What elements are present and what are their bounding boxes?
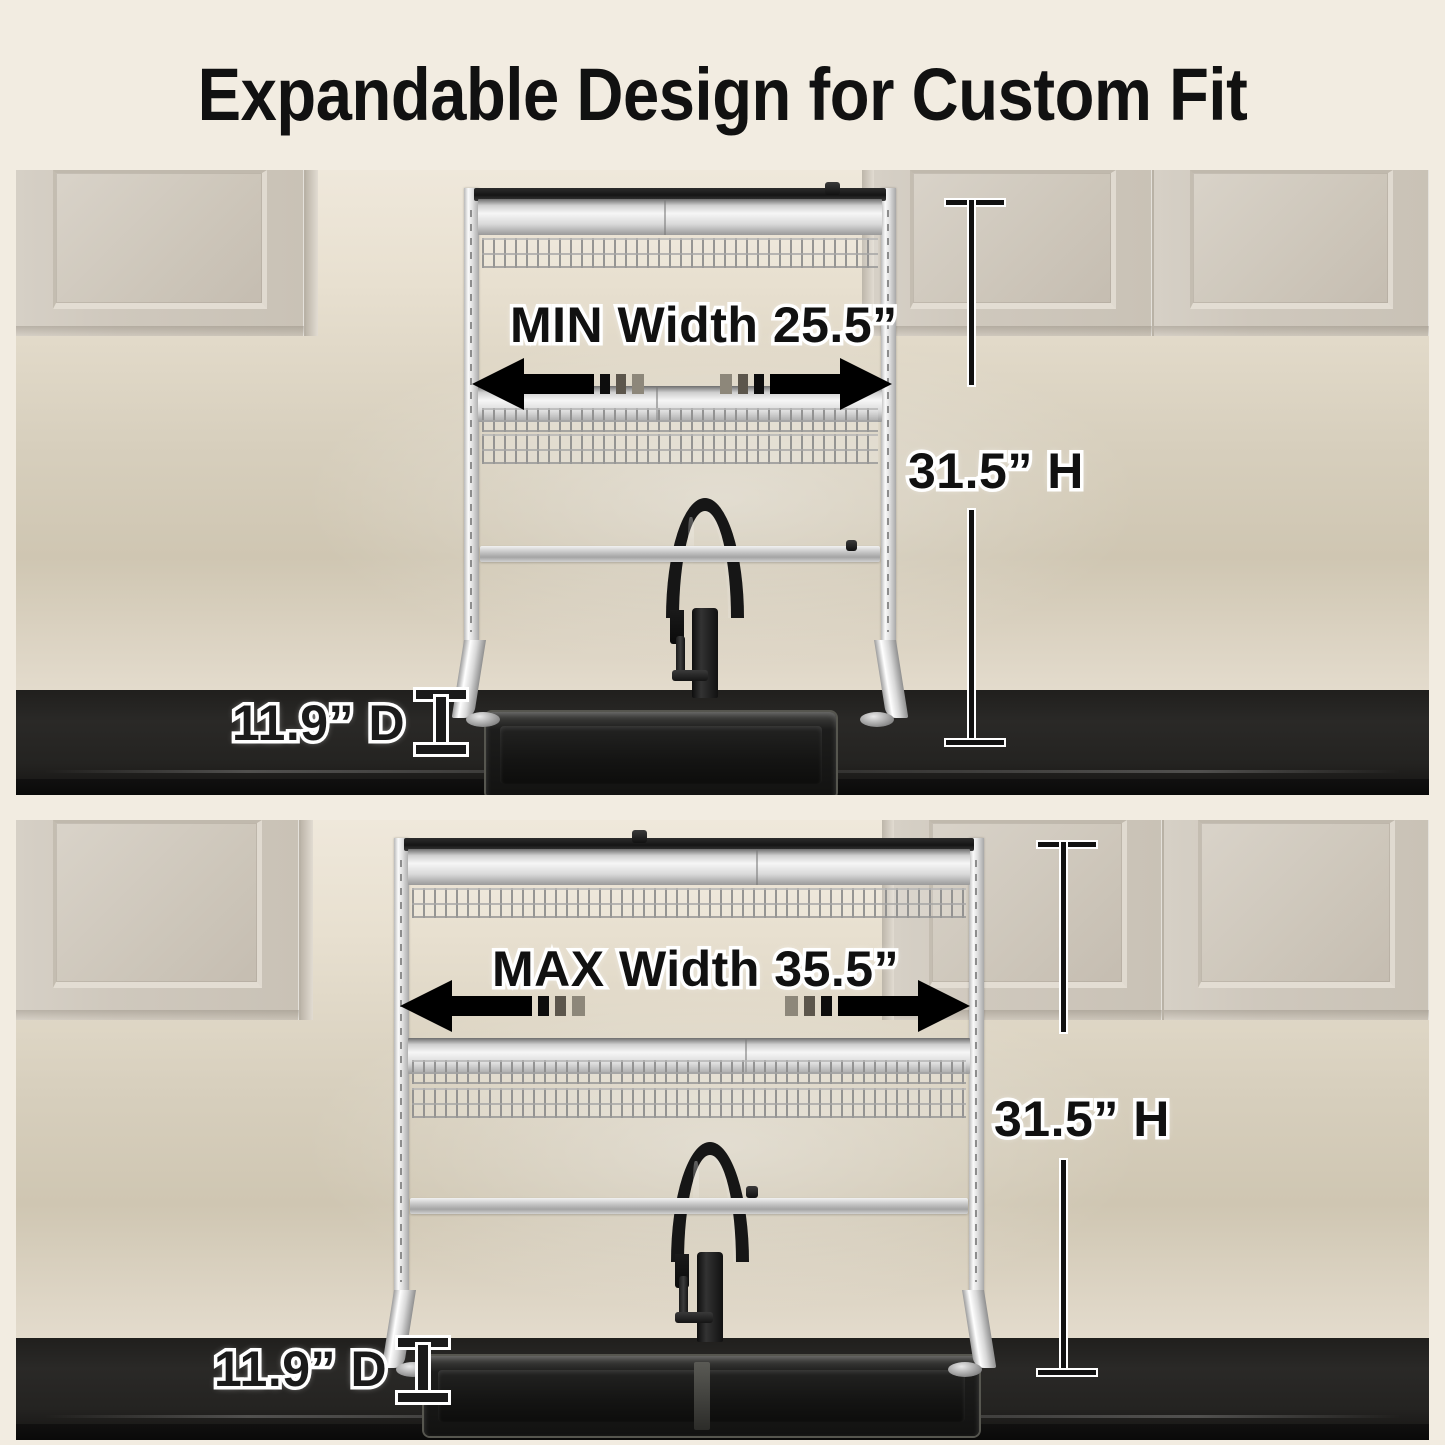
depth-ibeam-icon	[398, 1338, 448, 1402]
kitchen-sink	[424, 1356, 979, 1436]
depth-ibeam-icon	[416, 690, 466, 754]
arrow-head-left-icon	[400, 980, 452, 1032]
rack-upper-shelf	[474, 188, 886, 278]
rack-lower-shelf	[404, 1038, 974, 1130]
height-line-upper	[969, 200, 974, 385]
height-line-top-cap	[1038, 842, 1096, 847]
height-line-lower	[969, 510, 974, 745]
arrow-shaft-right	[838, 996, 920, 1016]
arrow-dash	[720, 374, 732, 394]
rack-foot-pad	[948, 1362, 982, 1377]
rack-foot-pad	[860, 712, 894, 727]
shelf-tray	[478, 199, 882, 235]
cabinet-door	[874, 170, 1154, 336]
rack-post-adjust-holes	[975, 860, 977, 1282]
height-label: 31.5” H	[908, 442, 1084, 500]
sink-divider	[694, 1362, 710, 1430]
rack-upper-shelf	[404, 838, 974, 928]
cabinet-group-left	[16, 170, 318, 336]
arrow-dash	[616, 374, 626, 394]
width-dimension-arrow	[472, 358, 892, 410]
height-line-bottom-cap	[946, 740, 1004, 745]
arrow-dash	[572, 996, 585, 1016]
min-width-label: MIN Width 25.5”	[510, 296, 898, 354]
shelf-wire-grid	[482, 434, 878, 464]
rack-foot-left	[464, 640, 504, 718]
arrow-dash	[538, 996, 549, 1016]
height-line-upper	[1061, 842, 1066, 1032]
rack-cross-bar-knob[interactable]	[846, 540, 857, 551]
cabinet-group-left	[16, 820, 313, 1020]
rack-foot-pad	[466, 712, 500, 727]
cabinet-edge	[306, 170, 318, 336]
arrow-dash	[754, 374, 764, 394]
arrow-dash	[804, 996, 815, 1016]
dish-drying-rack	[394, 838, 984, 1358]
arrow-head-right-icon	[840, 358, 892, 410]
height-line-top-cap	[946, 200, 1004, 205]
arrow-dash	[821, 996, 832, 1016]
cabinet-door	[16, 170, 306, 336]
arrow-dash	[785, 996, 798, 1016]
dish-drying-rack	[464, 188, 896, 708]
rack-post-adjust-holes	[887, 210, 889, 632]
shelf-wire-rail	[482, 408, 878, 432]
height-label: 31.5” H	[994, 1090, 1170, 1148]
arrow-shaft-left	[522, 374, 594, 394]
rack-post-adjust-holes	[400, 860, 402, 1282]
rack-foot-right	[856, 640, 896, 718]
arrow-head-right-icon	[918, 980, 970, 1032]
depth-label: 11.9” D	[232, 694, 405, 752]
ibeam-bottom-bar	[416, 745, 466, 754]
arrow-dash	[738, 374, 748, 394]
max-width-panel: MAX Width 35.5” 31.5” H 11.9” D	[16, 820, 1429, 1440]
arrow-dash	[632, 374, 644, 394]
rack-foot-right	[944, 1290, 984, 1368]
shelf-tray-seam	[756, 849, 758, 885]
depth-label: 11.9” D	[214, 1340, 387, 1398]
height-line-lower	[1061, 1160, 1066, 1375]
rack-knob[interactable]	[632, 830, 647, 843]
rack-post-adjust-holes	[470, 210, 472, 632]
height-line-bottom-cap	[1038, 1370, 1096, 1375]
page-title: Expandable Design for Custom Fit	[87, 52, 1359, 137]
shelf-tray	[408, 849, 970, 885]
width-dimension-arrow	[400, 980, 970, 1032]
arrow-dash	[555, 996, 566, 1016]
arrow-dash	[600, 374, 610, 394]
shelf-wire-grid	[412, 1088, 966, 1118]
arrow-shaft-right	[770, 374, 842, 394]
kitchen-sink	[486, 712, 836, 795]
ibeam-stem	[436, 697, 446, 747]
rack-cross-bar-knob[interactable]	[746, 1186, 758, 1198]
arrow-shaft-left	[450, 996, 532, 1016]
cabinet-door	[1154, 170, 1429, 336]
ibeam-bottom-bar	[398, 1393, 448, 1402]
rack-cross-bar	[480, 546, 880, 562]
shelf-wire-grid	[412, 888, 966, 918]
cabinet-door	[1164, 820, 1429, 1020]
cabinet-door	[16, 820, 301, 1020]
shelf-wire-grid	[482, 238, 878, 268]
shelf-wire-rail	[412, 1060, 966, 1084]
arrow-head-left-icon	[472, 358, 524, 410]
shelf-tray-seam	[664, 199, 666, 235]
min-width-panel: MIN Width 25.5” 31.5” H 11.9” D	[16, 170, 1429, 795]
ibeam-stem	[418, 1345, 428, 1395]
rack-knob[interactable]	[825, 182, 840, 195]
cabinet-edge	[301, 820, 313, 1020]
cabinet-group-right	[862, 170, 1429, 336]
sink-basin	[500, 726, 822, 784]
rack-cross-bar	[410, 1198, 968, 1214]
